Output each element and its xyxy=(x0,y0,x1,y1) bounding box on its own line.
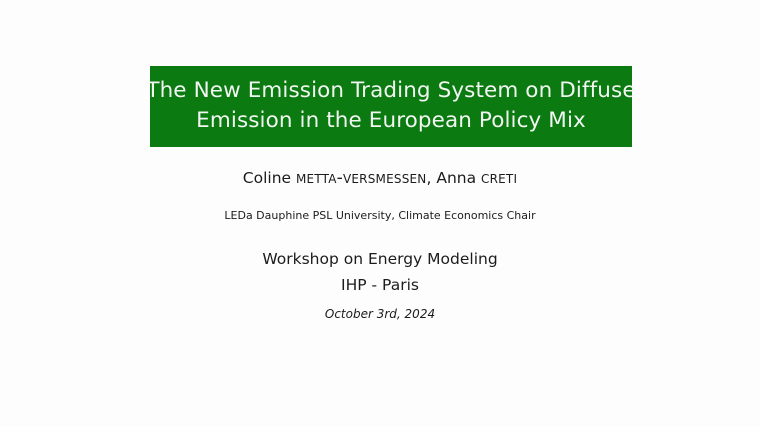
author-2-lastname: Creti xyxy=(481,168,517,188)
author-2-firstname: Anna xyxy=(436,169,476,187)
title-line-2: Emission in the European Policy Mix xyxy=(196,106,586,136)
author-separator: , xyxy=(426,169,436,187)
author-affiliation: LEDa Dauphine PSL University, Climate Ec… xyxy=(0,208,760,224)
author-list: Coline Metta-Versmessen, Anna Creti xyxy=(0,168,760,188)
title-line-1: The New Emission Trading System on Diffu… xyxy=(146,76,635,106)
title-banner: The New Emission Trading System on Diffu… xyxy=(150,66,632,147)
event-date: October 3rd, 2024 xyxy=(0,305,760,323)
presentation-slide: The New Emission Trading System on Diffu… xyxy=(0,0,760,427)
event-name: Workshop on Energy Modeling xyxy=(0,245,760,274)
event-venue: IHP - Paris xyxy=(0,274,760,296)
author-1-lastname: Metta-Versmessen xyxy=(296,168,426,188)
author-1-firstname: Coline xyxy=(243,169,291,187)
